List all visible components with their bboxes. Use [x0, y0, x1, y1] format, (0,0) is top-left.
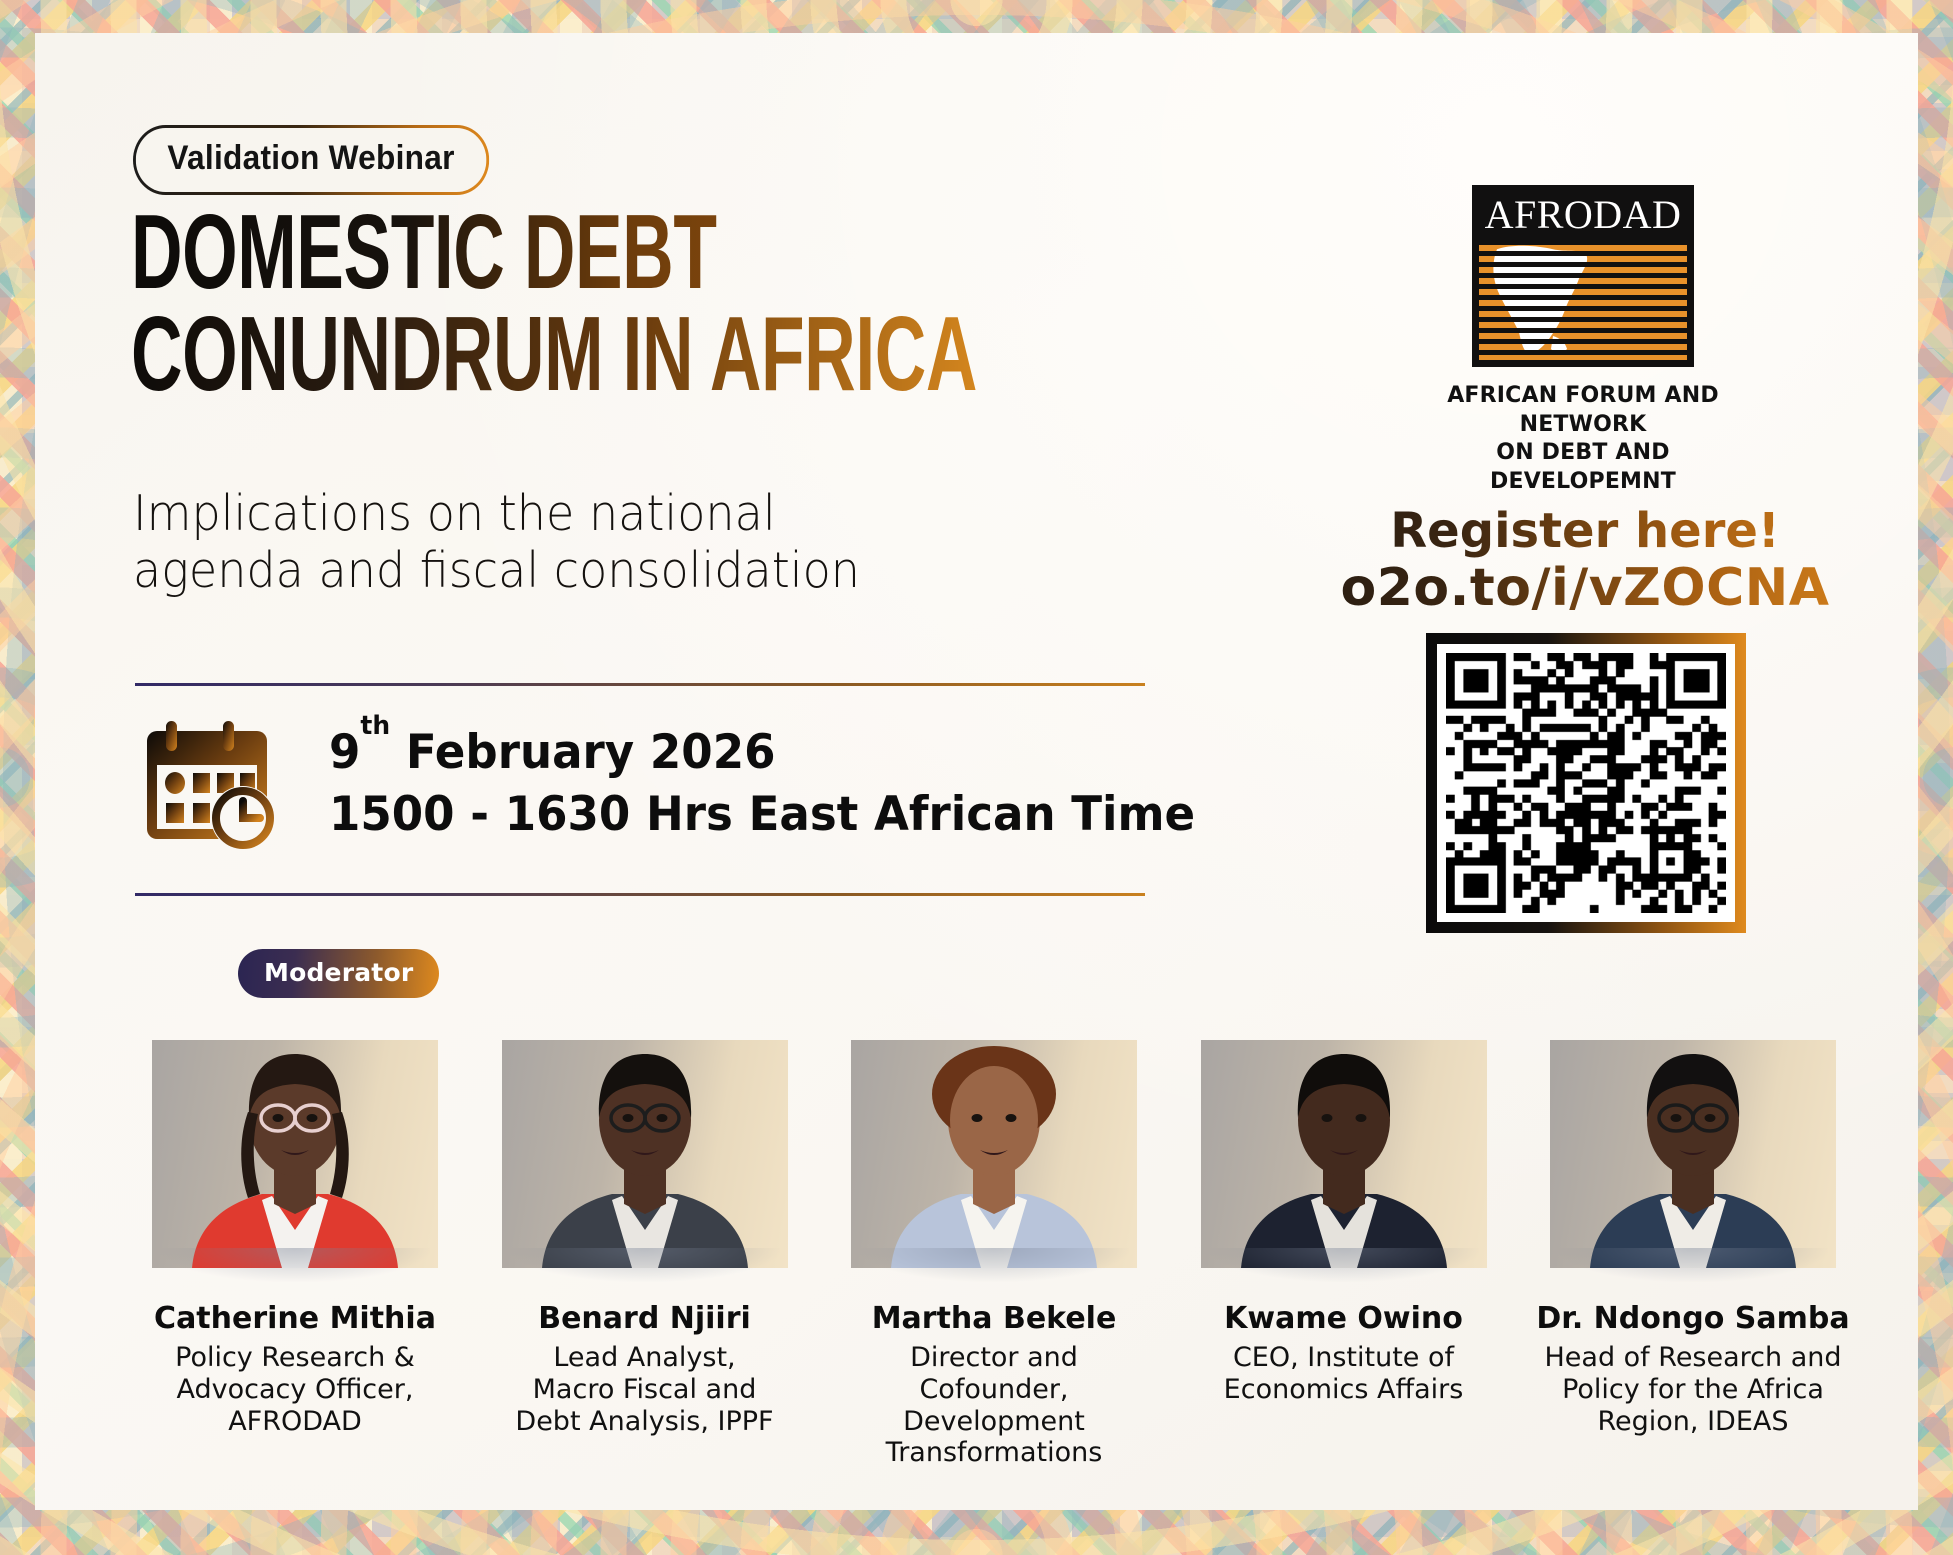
event-date: 9th February 2026: [329, 722, 1195, 785]
photo-shadow: [510, 1248, 780, 1282]
event-datetime-block: 9th February 2026 1500 - 1630 Hrs East A…: [139, 713, 1231, 855]
speaker-card: Kwame OwinoCEO, Institute ofEconomics Af…: [1179, 1008, 1509, 1406]
speaker-role-line: Director and: [886, 1342, 1103, 1374]
photo-shadow: [1209, 1248, 1479, 1282]
logo-box: AFRODAD: [1472, 185, 1694, 367]
speaker-role-line: Policy Research &: [175, 1342, 415, 1374]
speaker-role: CEO, Institute ofEconomics Affairs: [1224, 1342, 1464, 1406]
register-block: Register here! o2o.to/i/vZOCNA: [1265, 505, 1905, 617]
speaker-role-line: Lead Analyst,: [515, 1342, 773, 1374]
logo-wordmark: AFRODAD: [1479, 192, 1687, 240]
speaker-name: Benard Njiiri: [538, 1302, 751, 1337]
photo-shadow: [1558, 1248, 1828, 1282]
speaker-role-line: Head of Research and: [1544, 1342, 1841, 1374]
moderator-badge: Moderator: [238, 949, 439, 998]
register-heading: Register here!: [1265, 505, 1905, 559]
speaker-role-line: Region, IDEAS: [1544, 1406, 1841, 1438]
speaker-photo: [502, 1008, 788, 1268]
register-url[interactable]: o2o.to/i/vZOCNA: [1265, 559, 1905, 617]
subtitle-line-2: agenda and fiscal consolidation: [133, 542, 860, 599]
qr-code-inner: [1437, 644, 1735, 922]
page-subtitle: Implications on the national agenda and …: [133, 485, 860, 600]
subtitle-line-1: Implications on the national: [133, 485, 860, 542]
speaker-role: Head of Research andPolicy for the Afric…: [1544, 1342, 1841, 1438]
speaker-role-line: Cofounder,: [886, 1374, 1103, 1406]
speaker-role-line: Advocacy Officer,: [175, 1374, 415, 1406]
speakers-row: Catherine MithiaPolicy Research &Advocac…: [130, 1008, 1858, 1469]
speaker-card: Dr. Ndongo SambaHead of Research andPoli…: [1528, 1008, 1858, 1437]
logo-tagline-line-1: AFRICAN FORUM AND NETWORK: [1418, 382, 1748, 439]
speaker-role: Director andCofounder,DevelopmentTransfo…: [886, 1342, 1103, 1469]
divider-bottom: [135, 893, 1145, 896]
speaker-role-line: Economics Affairs: [1224, 1374, 1464, 1406]
page-title: DOMESTIC DEBT CONUNDRUM IN AFRICA: [131, 201, 977, 406]
portrait-illustration: [1550, 1008, 1836, 1268]
speaker-role-line: Debt Analysis, IPPF: [515, 1406, 773, 1438]
speaker-role-line: Policy for the Africa: [1544, 1374, 1841, 1406]
speaker-photo: [1550, 1008, 1836, 1268]
event-date-rest: February 2026: [390, 725, 775, 780]
event-date-ordinal: th: [360, 711, 390, 741]
speaker-name: Catherine Mithia: [154, 1302, 436, 1337]
divider-top: [135, 683, 1145, 686]
portrait-illustration: [502, 1008, 788, 1268]
portrait-illustration: [851, 1008, 1137, 1268]
speaker-photo: [851, 1008, 1137, 1268]
speaker-photo: [1201, 1008, 1487, 1268]
event-date-day: 9: [329, 725, 360, 780]
speaker-card: Benard NjiiriLead Analyst,Macro Fiscal a…: [480, 1008, 810, 1437]
calendar-clock-icon: [139, 713, 289, 855]
speaker-name: Dr. Ndongo Samba: [1536, 1302, 1849, 1337]
title-line-1: DOMESTIC DEBT: [131, 201, 977, 304]
portrait-illustration: [1201, 1008, 1487, 1268]
speaker-card: Catherine MithiaPolicy Research &Advocac…: [130, 1008, 460, 1437]
speaker-role: Lead Analyst,Macro Fiscal andDebt Analys…: [515, 1342, 773, 1438]
qr-code-icon: [1446, 653, 1726, 913]
speaker-role-line: CEO, Institute of: [1224, 1342, 1464, 1374]
photo-shadow: [859, 1248, 1129, 1282]
validation-webinar-badge: Validation Webinar: [133, 125, 489, 195]
qr-code[interactable]: [1426, 633, 1746, 933]
title-line-2: CONUNDRUM IN AFRICA: [131, 304, 977, 407]
afrodad-logo: AFRODAD AFRICAN FORUM AND NETWORK ON DEB…: [1472, 185, 1694, 496]
portrait-illustration: [152, 1008, 438, 1268]
speaker-card: Martha BekeleDirector andCofounder,Devel…: [829, 1008, 1159, 1469]
photo-shadow: [160, 1248, 430, 1282]
speaker-name: Martha Bekele: [872, 1302, 1117, 1337]
event-time: 1500 - 1630 Hrs East African Time: [329, 784, 1195, 847]
speaker-role-line: AFRODAD: [175, 1406, 415, 1438]
speaker-role: Policy Research &Advocacy Officer,AFRODA…: [175, 1342, 415, 1438]
speaker-role-line: Transformations: [886, 1437, 1103, 1469]
speaker-photo: [152, 1008, 438, 1268]
logo-tagline: AFRICAN FORUM AND NETWORK ON DEBT AND DE…: [1418, 382, 1748, 496]
logo-tagline-line-2: ON DEBT AND DEVELOPEMNT: [1418, 439, 1748, 496]
speaker-name: Kwame Owino: [1224, 1302, 1463, 1337]
speaker-role-line: Development: [886, 1406, 1103, 1438]
speaker-role-line: Macro Fiscal and: [515, 1374, 773, 1406]
logo-stripe-overlay: [1479, 240, 1687, 360]
logo-africa-artwork: [1479, 240, 1687, 360]
poster-card: Validation Webinar DOMESTIC DEBT CONUNDR…: [35, 33, 1918, 1510]
